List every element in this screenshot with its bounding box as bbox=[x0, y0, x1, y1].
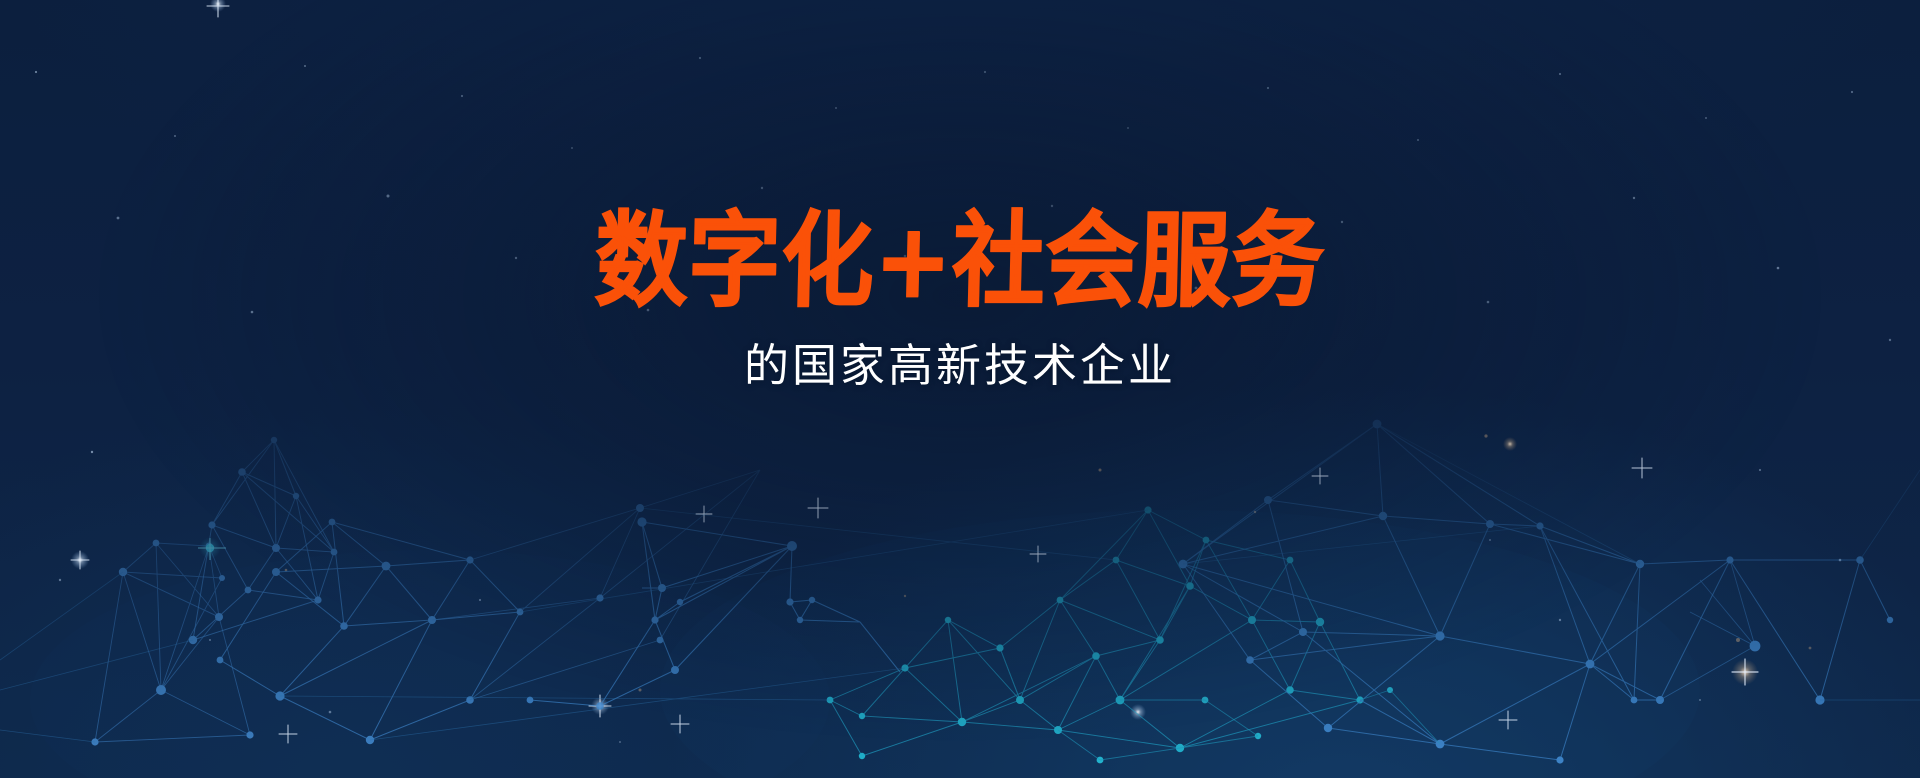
banner-headline: 数字化+社会服务 bbox=[0, 210, 1920, 313]
banner-root: 数字化+社会服务 的国家高新技术企业 bbox=[0, 0, 1920, 778]
banner-subtitle: 的国家高新技术企业 bbox=[0, 342, 1920, 389]
nebula-dust bbox=[30, 510, 1700, 778]
banner-text-block: 数字化+社会服务 的国家高新技术企业 bbox=[0, 216, 1920, 389]
